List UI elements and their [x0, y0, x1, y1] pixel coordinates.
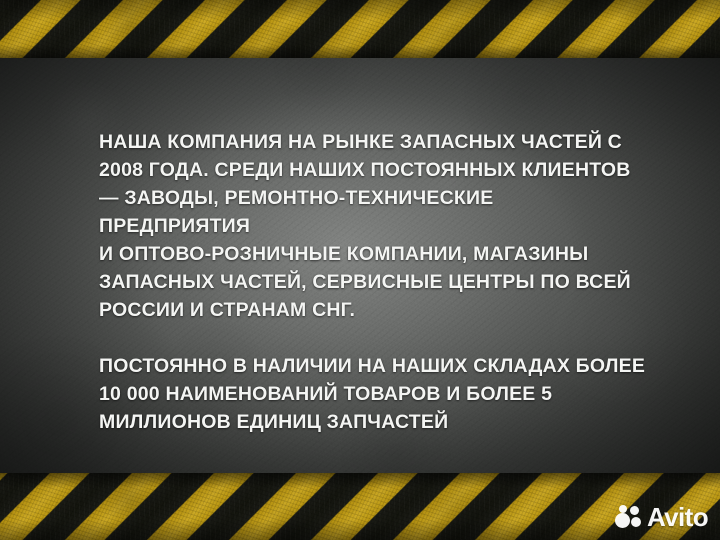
promo-paragraph-company-profile: НАША КОМПАНИЯ НА РЫНКЕ ЗАПАСНЫХ ЧАСТЕЙ С…: [99, 128, 647, 324]
promo-paragraph-stock-figures: ПОСТОЯННО В НАЛИЧИИ НА НАШИХ СКЛАДАХ БОЛ…: [99, 352, 647, 436]
hazard-stripe-band-top: [0, 0, 720, 58]
promo-text-block: НАША КОМПАНИЯ НА РЫНКЕ ЗАПАСНЫХ ЧАСТЕЙ С…: [99, 128, 647, 436]
avito-watermark: Avito: [615, 504, 708, 530]
avito-dot-right-small: [630, 506, 639, 515]
hazard-shading-top: [0, 0, 720, 58]
hazard-stripe-band-bottom: [0, 473, 720, 540]
avito-wordmark: Avito: [647, 504, 708, 530]
avito-dots-icon: [615, 505, 641, 529]
banner-canvas: НАША КОМПАНИЯ НА РЫНКЕ ЗАПАСНЫХ ЧАСТЕЙ С…: [0, 0, 720, 540]
avito-dot-large: [615, 513, 630, 528]
hazard-shading-bottom: [0, 473, 720, 540]
avito-dot-top-small: [619, 505, 627, 513]
avito-dot-bottom-small: [631, 517, 641, 527]
